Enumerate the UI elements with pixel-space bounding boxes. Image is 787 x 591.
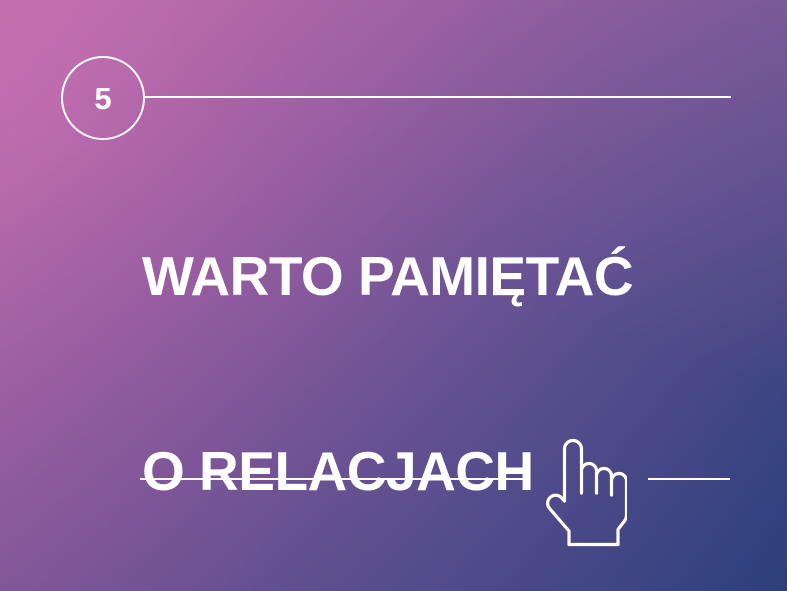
- slide-content: 5 WARTO PAMIĘTAĆ O RELACJACH: [0, 0, 787, 591]
- pointing-hand-icon: [541, 431, 627, 553]
- slide-title-line-1: WARTO PAMIĘTAĆ: [142, 244, 633, 309]
- slide-canvas: 5 WARTO PAMIĘTAĆ O RELACJACH: [0, 0, 787, 591]
- footer-divider-rule-short: [648, 478, 730, 480]
- slide-number-badge: 5: [61, 56, 145, 140]
- slide-number-label: 5: [94, 83, 111, 114]
- footer-divider-rule-long: [140, 478, 525, 480]
- header-divider-rule: [145, 96, 731, 98]
